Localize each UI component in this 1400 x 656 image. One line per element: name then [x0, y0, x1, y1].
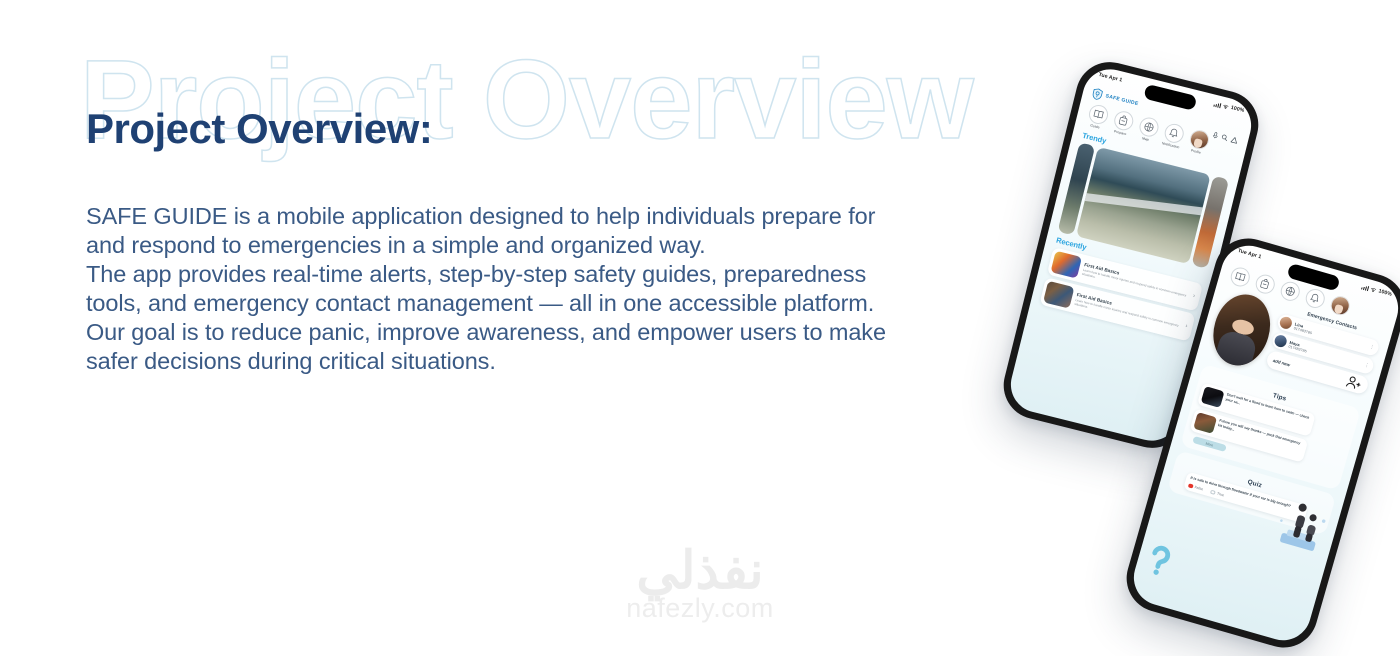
nav-circle [1253, 272, 1277, 296]
quiz-option-false[interactable]: False [1188, 483, 1204, 492]
nav-item-prepare[interactable] [1252, 272, 1278, 296]
book-icon [1233, 270, 1247, 284]
signal-icon [1362, 284, 1370, 291]
contact-avatar [1273, 334, 1288, 349]
more-options-icon[interactable]: ⋮ [1364, 363, 1370, 368]
backpack-icon [1117, 114, 1129, 127]
nav-label: Profile [1190, 148, 1201, 154]
nav-item-map[interactable] [1277, 279, 1303, 303]
globe-icon [1142, 120, 1155, 133]
nav-item-guide[interactable]: Guide [1084, 102, 1111, 131]
chevron-right-icon[interactable]: › [1192, 293, 1197, 300]
nav-item-map[interactable]: Map [1134, 115, 1161, 144]
signal-icon [1214, 101, 1222, 108]
app-brand-name: SAFE GUIDE [1105, 93, 1139, 107]
nav-item-guide[interactable] [1227, 265, 1253, 289]
book-icon [1091, 108, 1104, 121]
radio-icon [1210, 489, 1216, 495]
nav-item-notification[interactable] [1302, 286, 1328, 310]
description-paragraph-2: The app provides real-time alerts, step-… [86, 260, 916, 318]
quiz-option-label: False [1194, 485, 1204, 491]
quiz-option-true[interactable]: True [1210, 489, 1224, 497]
overview-description: SAFE GUIDE is a mobile application desig… [86, 202, 916, 376]
description-paragraph-3: Our goal is to reduce panic, improve awa… [86, 318, 916, 376]
nav-item-notification[interactable]: Notification [1160, 121, 1187, 150]
nav-item-prepare[interactable]: Prepare [1109, 109, 1136, 138]
chevron-right-icon[interactable]: › [1185, 323, 1190, 330]
page-title: Project Overview: [86, 108, 432, 150]
nav-circle [1303, 287, 1327, 311]
add-user-icon [1344, 374, 1363, 392]
avatar [1328, 294, 1352, 318]
list-item-thumbnail [1043, 281, 1075, 309]
radio-selected-icon [1188, 483, 1194, 489]
add-contact-label: add new [1273, 357, 1291, 367]
nav-circle [1228, 265, 1252, 289]
description-paragraph-1: SAFE GUIDE is a mobile application desig… [86, 202, 916, 260]
tip-thumbnail [1201, 386, 1225, 408]
backpack-icon [1258, 277, 1271, 290]
globe-icon [1283, 284, 1297, 298]
tip-thumbnail [1193, 412, 1217, 434]
mic-icon[interactable] [1212, 131, 1220, 139]
wifi-icon [1370, 287, 1377, 293]
shield-logo-icon [1091, 87, 1105, 101]
phone-mockups: Tue Apr 1 100% [980, 0, 1400, 632]
contact-avatar [1278, 315, 1293, 330]
nav-item-profile[interactable] [1327, 293, 1353, 317]
title-ghost-outline: Project Overview [80, 44, 973, 156]
search-icon[interactable] [1220, 133, 1228, 141]
nav-circle [1278, 279, 1302, 303]
nav-label: Guide [1090, 123, 1100, 129]
bell-icon [1308, 292, 1321, 305]
more-options-icon[interactable]: ⋮ [1369, 345, 1375, 350]
list-item-thumbnail [1050, 251, 1082, 279]
wifi-icon [1223, 103, 1230, 109]
question-mark-illustration [1140, 541, 1178, 582]
bell-icon [1168, 127, 1180, 140]
title-block: Project Overview Project Overview: [0, 0, 1120, 190]
quiz-option-label: True [1216, 491, 1224, 497]
nav-label: Map [1142, 136, 1150, 142]
nav-circle [1137, 115, 1160, 138]
nav-item-profile[interactable]: Profile [1185, 128, 1212, 157]
